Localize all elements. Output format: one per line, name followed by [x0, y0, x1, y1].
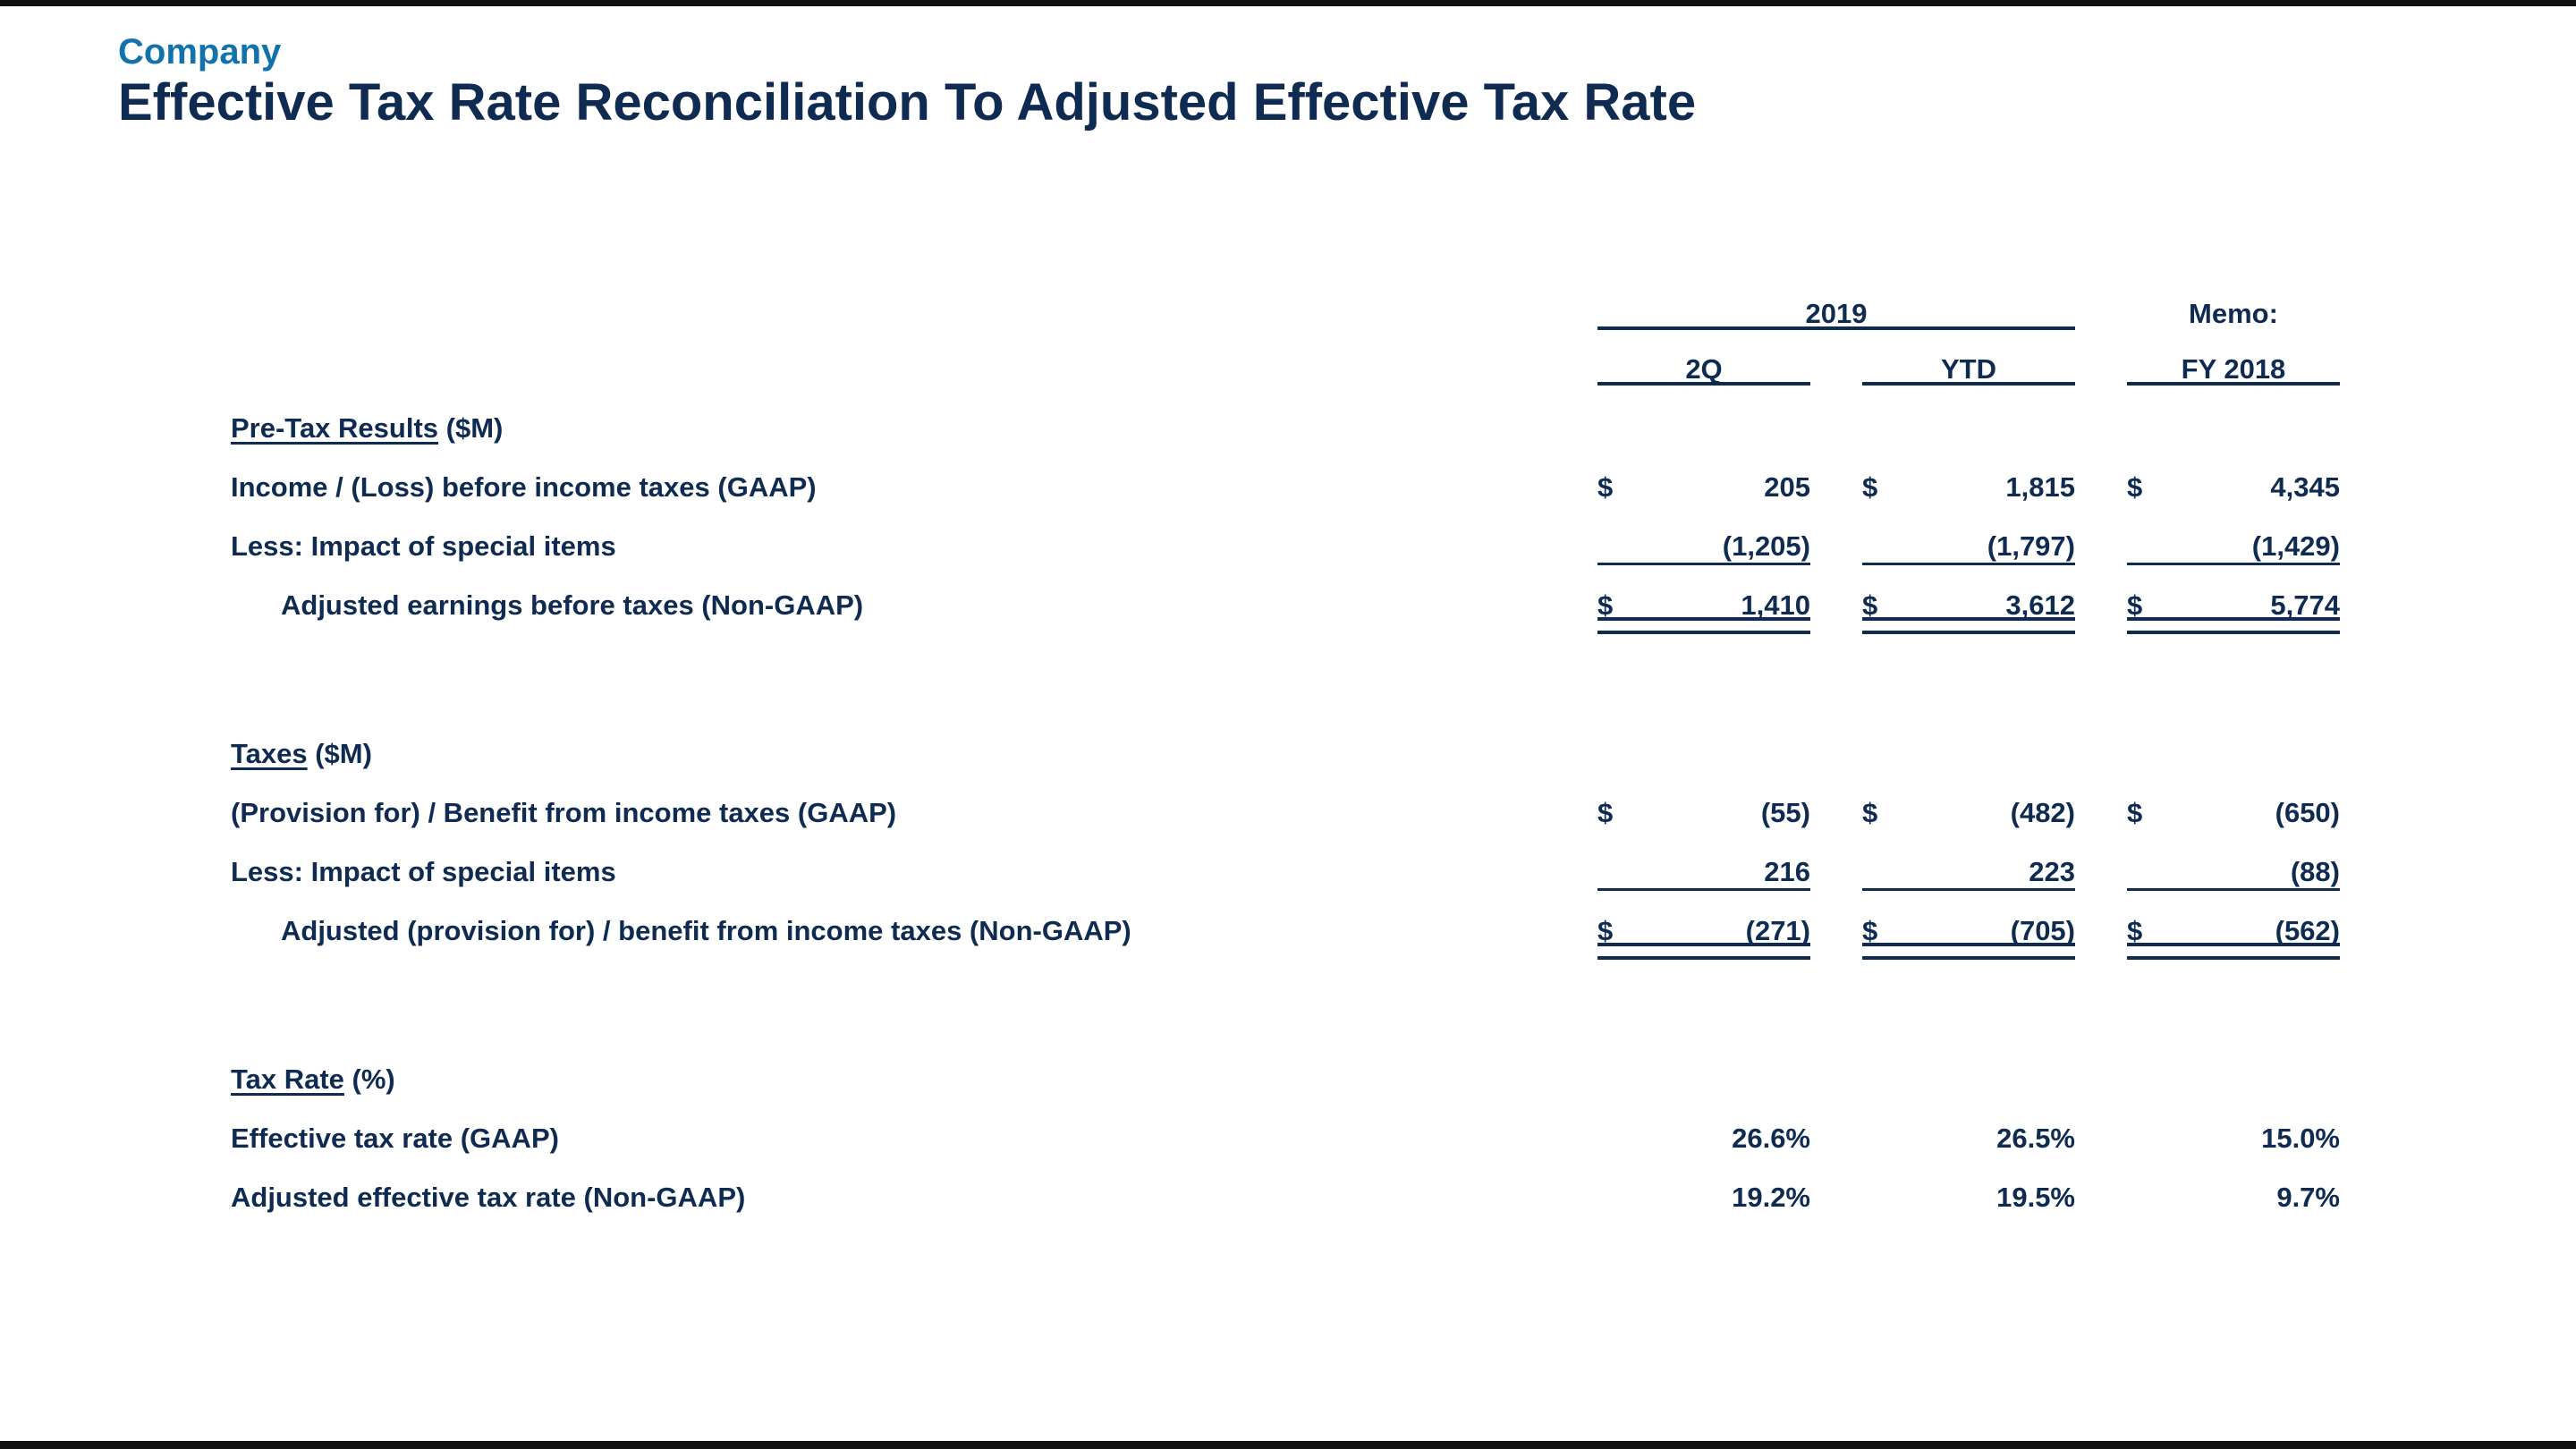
- row-value: 1,410: [1653, 563, 1810, 622]
- column-gap-3: [2075, 445, 2127, 504]
- section-heading-row: Tax Rate (%): [231, 1037, 2340, 1096]
- table-row: Less: Impact of special items(1,205)(1,7…: [231, 504, 2340, 563]
- header-col-fy2018: FY 2018: [2127, 330, 2340, 386]
- section-heading-pad: [2075, 1037, 2127, 1096]
- currency-symbol: $: [2127, 888, 2182, 947]
- header-col-2q: 2Q: [1597, 330, 1810, 386]
- row-value: (271): [1653, 888, 1810, 947]
- slide-canvas: Company Effective Tax Rate Reconciliatio…: [0, 6, 2576, 1441]
- column-gap-3: [2075, 504, 2127, 563]
- column-gap-1: [1590, 504, 1597, 563]
- header-gap-1b: [1590, 330, 1597, 386]
- column-gap-3: [2075, 1155, 2127, 1214]
- currency-symbol: [1597, 1096, 1653, 1155]
- section-heading-pad: [1810, 711, 1862, 770]
- section-heading: Taxes ($M): [231, 711, 1590, 770]
- column-gap-2: [1810, 1155, 1862, 1214]
- section-spacer-cell: [231, 970, 2340, 1037]
- table-header: 2019 Memo: 2Q YTD FY 2018: [231, 275, 2340, 386]
- currency-symbol: $: [2127, 563, 2182, 622]
- table-row: Effective tax rate (GAAP)26.6%26.5%15.0%: [231, 1096, 2340, 1155]
- section-heading-pad: [1918, 386, 2075, 445]
- company-eyebrow: Company: [118, 33, 1696, 71]
- currency-symbol: [1597, 504, 1653, 563]
- column-gap-1: [1590, 888, 1597, 947]
- row-value: (650): [2182, 770, 2340, 829]
- row-value: (1,797): [1918, 504, 2075, 563]
- section-heading-pad: [2182, 711, 2340, 770]
- row-value: 1,815: [1918, 445, 2075, 504]
- header-column-row: 2Q YTD FY 2018: [231, 330, 2340, 386]
- column-gap-2: [1810, 829, 1862, 888]
- row-value: 9.7%: [2182, 1155, 2340, 1214]
- section-heading-pad: [1918, 1037, 2075, 1096]
- section-heading-underlined: Taxes: [231, 738, 308, 769]
- row-value: (482): [1918, 770, 2075, 829]
- header-col-ytd: YTD: [1862, 330, 2075, 386]
- currency-symbol: [1862, 1155, 1918, 1214]
- currency-symbol: [2127, 1155, 2182, 1214]
- section-heading-pad: [2182, 1037, 2340, 1096]
- column-gap-2: [1810, 445, 1862, 504]
- column-gap-3: [2075, 888, 2127, 947]
- header-empty-label-2: [231, 330, 1590, 386]
- section-heading: Pre-Tax Results ($M): [231, 386, 1590, 445]
- section-heading-pad: [1862, 711, 1918, 770]
- section-heading-row: Pre-Tax Results ($M): [231, 386, 2340, 445]
- column-gap-2: [1810, 770, 1862, 829]
- section-spacer-cell: [231, 645, 2340, 711]
- row-label: Income / (Loss) before income taxes (GAA…: [231, 445, 1590, 504]
- section-spacer: [231, 645, 2340, 711]
- currency-symbol: $: [2127, 445, 2182, 504]
- currency-symbol: [1597, 1155, 1653, 1214]
- header-gap-1: [1590, 275, 1597, 330]
- header-group-2019: 2019: [1597, 275, 2075, 330]
- section-heading-pad: [1653, 1037, 1810, 1096]
- row-label: Adjusted earnings before taxes (Non-GAAP…: [231, 563, 1590, 622]
- currency-symbol: $: [1597, 888, 1653, 947]
- header-gap-3b: [2075, 330, 2127, 386]
- column-gap-2: [1810, 563, 1862, 622]
- row-value: (705): [1918, 888, 2075, 947]
- column-gap-1: [1590, 563, 1597, 622]
- row-label: (Provision for) / Benefit from income ta…: [231, 770, 1590, 829]
- row-label: Less: Impact of special items: [231, 829, 1590, 888]
- bottom-edge-bar: [0, 1441, 2576, 1449]
- row-value: 5,774: [2182, 563, 2340, 622]
- section-heading: Tax Rate (%): [231, 1037, 1590, 1096]
- column-gap-1: [1590, 1096, 1597, 1155]
- table-row: Adjusted effective tax rate (Non-GAAP)19…: [231, 1155, 2340, 1214]
- section-heading-pad: [1590, 386, 1597, 445]
- row-value: 26.5%: [1918, 1096, 2075, 1155]
- row-value: (562): [2182, 888, 2340, 947]
- row-label: Adjusted effective tax rate (Non-GAAP): [231, 1155, 1590, 1214]
- currency-symbol: $: [1597, 445, 1653, 504]
- row-value: 26.6%: [1653, 1096, 1810, 1155]
- section-heading-underlined: Tax Rate: [231, 1063, 344, 1095]
- financial-table-wrap: 2019 Memo: 2Q YTD FY 2018 Pre-Tax Result…: [0, 275, 2576, 1214]
- section-heading-pad: [2075, 711, 2127, 770]
- row-value: 205: [1653, 445, 1810, 504]
- currency-symbol: $: [1862, 888, 1918, 947]
- column-gap-3: [2075, 563, 2127, 622]
- currency-symbol: [2127, 1096, 2182, 1155]
- section-heading-pad: [1597, 1037, 1653, 1096]
- currency-symbol: [1597, 829, 1653, 888]
- section-heading-suffix: ($M): [308, 738, 372, 769]
- section-heading-pad: [1862, 1037, 1918, 1096]
- row-value: 216: [1653, 829, 1810, 888]
- column-gap-2: [1810, 1096, 1862, 1155]
- table-row: (Provision for) / Benefit from income ta…: [231, 770, 2340, 829]
- currency-symbol: $: [1862, 770, 1918, 829]
- currency-symbol: [1862, 829, 1918, 888]
- section-heading-pad: [1653, 711, 1810, 770]
- currency-symbol: [1862, 504, 1918, 563]
- row-value: (1,205): [1653, 504, 1810, 563]
- currency-symbol: $: [1862, 445, 1918, 504]
- currency-symbol: $: [1597, 770, 1653, 829]
- row-value: (1,429): [2182, 504, 2340, 563]
- currency-symbol: [2127, 829, 2182, 888]
- row-value: 4,345: [2182, 445, 2340, 504]
- section-heading-pad: [1918, 711, 2075, 770]
- table-row: Less: Impact of special items216223(88): [231, 829, 2340, 888]
- row-value: 3,612: [1918, 563, 2075, 622]
- section-heading-pad: [2075, 386, 2127, 445]
- column-gap-1: [1590, 829, 1597, 888]
- table-row: Adjusted earnings before taxes (Non-GAAP…: [231, 563, 2340, 622]
- page-title: Effective Tax Rate Reconciliation To Adj…: [118, 74, 1696, 132]
- row-value: (55): [1653, 770, 1810, 829]
- column-gap-1: [1590, 770, 1597, 829]
- currency-symbol: [2127, 504, 2182, 563]
- table-row: Income / (Loss) before income taxes (GAA…: [231, 445, 2340, 504]
- column-gap-2: [1810, 888, 1862, 947]
- section-heading-underlined: Pre-Tax Results: [231, 412, 438, 444]
- section-heading-suffix: (%): [344, 1063, 395, 1095]
- header-group-row: 2019 Memo:: [231, 275, 2340, 330]
- section-heading-pad: [2127, 711, 2182, 770]
- currency-symbol: $: [1597, 563, 1653, 622]
- section-heading-pad: [2127, 386, 2182, 445]
- section-heading-pad: [1597, 386, 1653, 445]
- column-gap-3: [2075, 770, 2127, 829]
- currency-symbol: $: [1862, 563, 1918, 622]
- column-gap-1: [1590, 1155, 1597, 1214]
- column-gap-3: [2075, 1096, 2127, 1155]
- row-value: 223: [1918, 829, 2075, 888]
- section-heading-pad: [1810, 386, 1862, 445]
- currency-symbol: [1862, 1096, 1918, 1155]
- section-heading-pad: [1810, 1037, 1862, 1096]
- section-heading-pad: [1590, 1037, 1597, 1096]
- table-body: Pre-Tax Results ($M)Income / (Loss) befo…: [231, 386, 2340, 1214]
- section-heading-suffix: ($M): [438, 412, 503, 444]
- header-empty-label: [231, 275, 1590, 330]
- section-heading-pad: [2182, 386, 2340, 445]
- column-gap-3: [2075, 829, 2127, 888]
- row-value: 15.0%: [2182, 1096, 2340, 1155]
- top-edge-bar: [0, 0, 2576, 6]
- row-value: 19.5%: [1918, 1155, 2075, 1214]
- header-gap-3: [2075, 275, 2127, 330]
- header-gap-2b: [1810, 330, 1862, 386]
- section-heading-pad: [1862, 386, 1918, 445]
- section-spacer: [231, 970, 2340, 1037]
- header-memo: Memo:: [2127, 275, 2340, 330]
- row-value: 19.2%: [1653, 1155, 1810, 1214]
- section-heading-pad: [1597, 711, 1653, 770]
- row-label: Effective tax rate (GAAP): [231, 1096, 1590, 1155]
- section-heading-pad: [1590, 711, 1597, 770]
- row-value: (88): [2182, 829, 2340, 888]
- row-label: Adjusted (provision for) / benefit from …: [231, 888, 1590, 947]
- tax-reconciliation-table: 2019 Memo: 2Q YTD FY 2018 Pre-Tax Result…: [231, 275, 2340, 1214]
- table-row: Adjusted (provision for) / benefit from …: [231, 888, 2340, 947]
- section-heading-row: Taxes ($M): [231, 711, 2340, 770]
- title-block: Company Effective Tax Rate Reconciliatio…: [118, 33, 1696, 132]
- column-gap-1: [1590, 445, 1597, 504]
- section-heading-pad: [2127, 1037, 2182, 1096]
- section-heading-pad: [1653, 386, 1810, 445]
- row-label: Less: Impact of special items: [231, 504, 1590, 563]
- column-gap-2: [1810, 504, 1862, 563]
- currency-symbol: $: [2127, 770, 2182, 829]
